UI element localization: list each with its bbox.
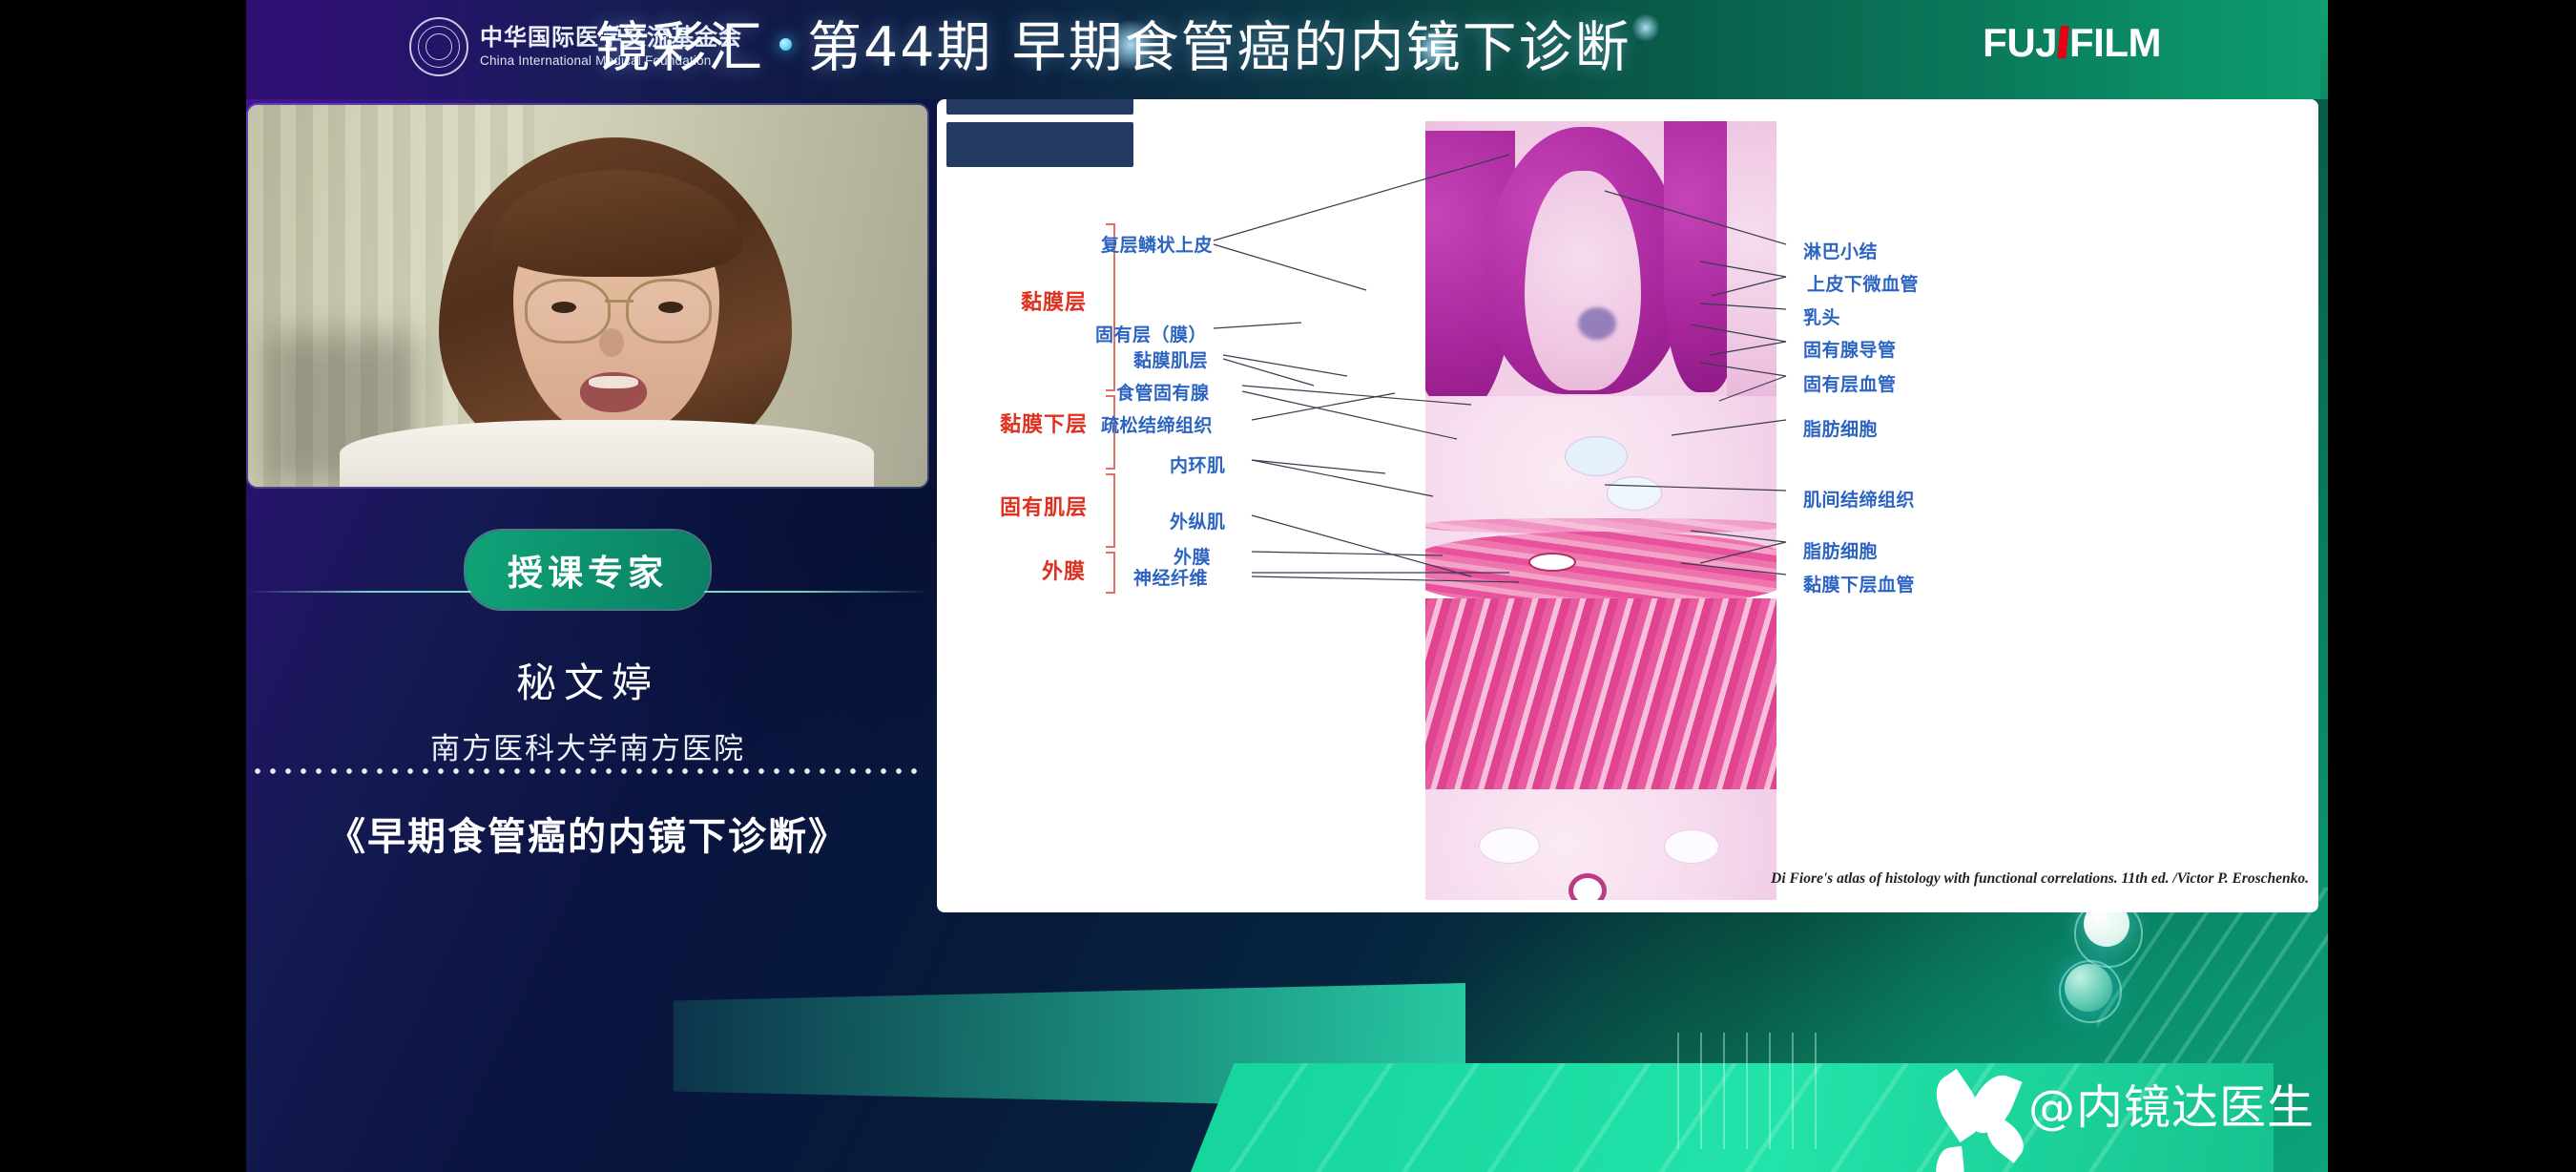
lecture-title: 《早期食管癌的内镜下诊断》 [246,806,929,861]
label-submucosal-vessel: 黏膜下层血管 [1803,571,1915,596]
glasses-bridge [605,300,634,303]
broadcast-frame: 中华国际医学交流基金会 China International Medical … [246,0,2328,1172]
brace-adventitia [1113,552,1115,594]
speaker-affiliation: 南方医科大学南方医院 [246,724,929,767]
label-nerve-fibers: 神经纤维 [1133,564,1208,590]
eye-right [658,302,683,313]
label-stratified-squamous-epithelium: 复层鳞状上皮 [1101,231,1213,257]
redacted-block-title [946,122,1133,167]
layer-label-submucosa: 黏膜下层 [1000,408,1088,438]
decor-bubble-teal [2065,964,2112,1012]
redacted-block-top [946,99,1133,115]
label-adipocyte-upper: 脂肪细胞 [1803,415,1878,441]
label-inner-circular-muscle: 内环肌 [1170,451,1226,477]
label-papilla: 乳头 [1803,303,1840,329]
screenshot-stage: 中华国际医学交流基金会 China International Medical … [0,0,2576,1172]
glasses-icon [523,279,714,338]
label-loose-connective-tissue: 疏松结缔组织 [1101,411,1213,437]
watermark-handle: @内镜达医生 [2028,1070,2328,1138]
episode-title: 第44期 早期食管癌的内镜下诊断 [807,16,1631,79]
layer-label-muscularis: 固有肌层 [1000,491,1088,521]
label-lymphoid-nodule: 淋巴小结 [1803,238,1878,263]
label-gland-duct: 固有腺导管 [1803,336,1897,362]
speaker-video-tile[interactable] [248,105,927,487]
label-esophageal-glands: 食管固有腺 [1116,379,1210,405]
layer-label-adventitia: 外膜 [1042,555,1086,585]
layer-label-mucosa: 黏膜层 [1021,285,1087,316]
mouth [580,372,647,412]
dot-separator-icon [779,38,792,51]
label-intermuscular-connective-tissue: 肌间结缔组织 [1803,486,1915,512]
leaf-logo-icon [1927,1061,2015,1145]
fujifilm-red-bar-icon [2057,26,2069,58]
fujifilm-head: FUJ [1983,20,2057,66]
eye-left [551,302,576,313]
program-title: 镜彩汇第44期 早期食管癌的内镜下诊断 [595,4,1631,82]
vertical-line-decor [1677,1033,1820,1149]
label-lamina-propria-vessel: 固有层血管 [1803,370,1897,396]
channel-watermark: @内镜达医生 [1927,1047,2328,1160]
presentation-slide[interactable]: 黏膜层 黏膜下层 固有肌层 外膜 复层鳞状上皮 固有层（膜） 黏膜肌层 食管固有… [937,99,2318,912]
sparkle-icon [1631,13,1660,42]
header-banner: 中华国际医学交流基金会 China International Medical … [246,0,2328,99]
esophagus-histology-image [1425,121,1776,900]
label-adipocyte-lower: 脂肪细胞 [1803,537,1878,563]
speaker-name: 秘文婷 [246,651,929,709]
expert-badge: 授课专家 [466,531,710,609]
label-outer-longitudinal-muscle: 外纵肌 [1170,508,1226,534]
fujifilm-logo: FUJFILM [1983,20,2161,66]
brace-muscularis [1113,473,1115,548]
speaker-info-panel: 授课专家 秘文婷 南方医科大学南方医院 《早期食管癌的内镜下诊断》 [246,531,929,767]
program-series: 镜彩汇 [595,16,764,79]
banner-right-edge [2320,0,2328,99]
label-subepithelial-capillary: 上皮下微血管 [1807,270,1919,296]
globe-seal-icon [409,17,468,76]
shirt [340,420,874,487]
nose [599,328,624,357]
dotted-divider [250,767,924,775]
label-lamina-propria: 固有层（膜） [1095,321,1207,346]
slide-citation: Di Fiore's atlas of histology with funct… [1422,870,2309,888]
fujifilm-tail: FILM [2069,20,2161,66]
label-muscularis-mucosae: 黏膜肌层 [1133,346,1208,372]
